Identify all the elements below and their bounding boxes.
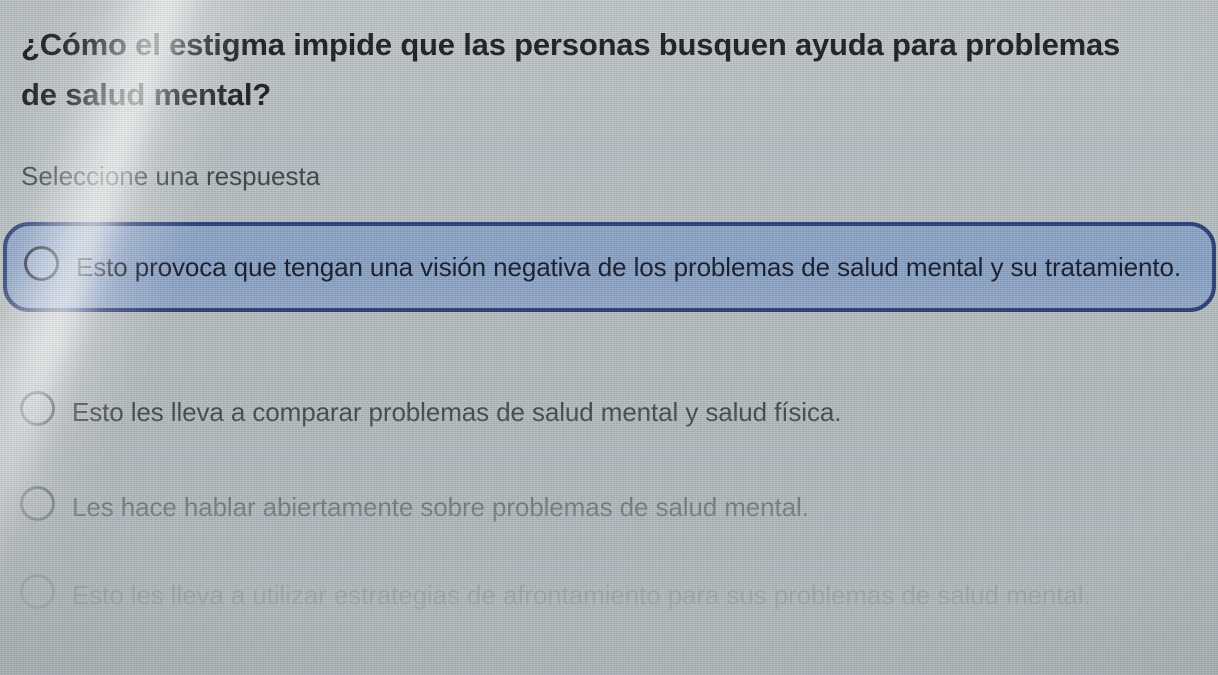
answer-option-label: Les hace hablar abiertamente sobre probl… bbox=[72, 484, 1192, 530]
answer-option-label: Esto les lleva a utilizar estrategias de… bbox=[72, 572, 1192, 618]
answer-option-4[interactable]: Esto les lleva a utilizar estrategias de… bbox=[0, 550, 1218, 640]
answer-option-3[interactable]: Les hace hablar abiertamente sobre probl… bbox=[0, 462, 1218, 552]
quiz-screen: ¿Cómo el estigma impide que las personas… bbox=[0, 0, 1218, 675]
radio-unchecked-icon[interactable] bbox=[20, 486, 55, 521]
question-text: ¿Cómo el estigma impide que las personas… bbox=[21, 20, 1151, 120]
answer-option-2[interactable]: Esto les lleva a comparar problemas de s… bbox=[0, 367, 1218, 457]
radio-unchecked-icon[interactable] bbox=[20, 391, 55, 426]
answer-option-label: Esto provoca que tengan una visión negat… bbox=[76, 244, 1190, 290]
answer-option-label: Esto les lleva a comparar problemas de s… bbox=[72, 389, 1192, 435]
answer-prompt-label: Seleccione una respuesta bbox=[21, 160, 320, 194]
radio-unchecked-icon[interactable] bbox=[20, 574, 55, 609]
radio-unchecked-icon[interactable] bbox=[24, 246, 59, 281]
answer-option-1[interactable]: Esto provoca que tengan una visión negat… bbox=[3, 222, 1216, 312]
